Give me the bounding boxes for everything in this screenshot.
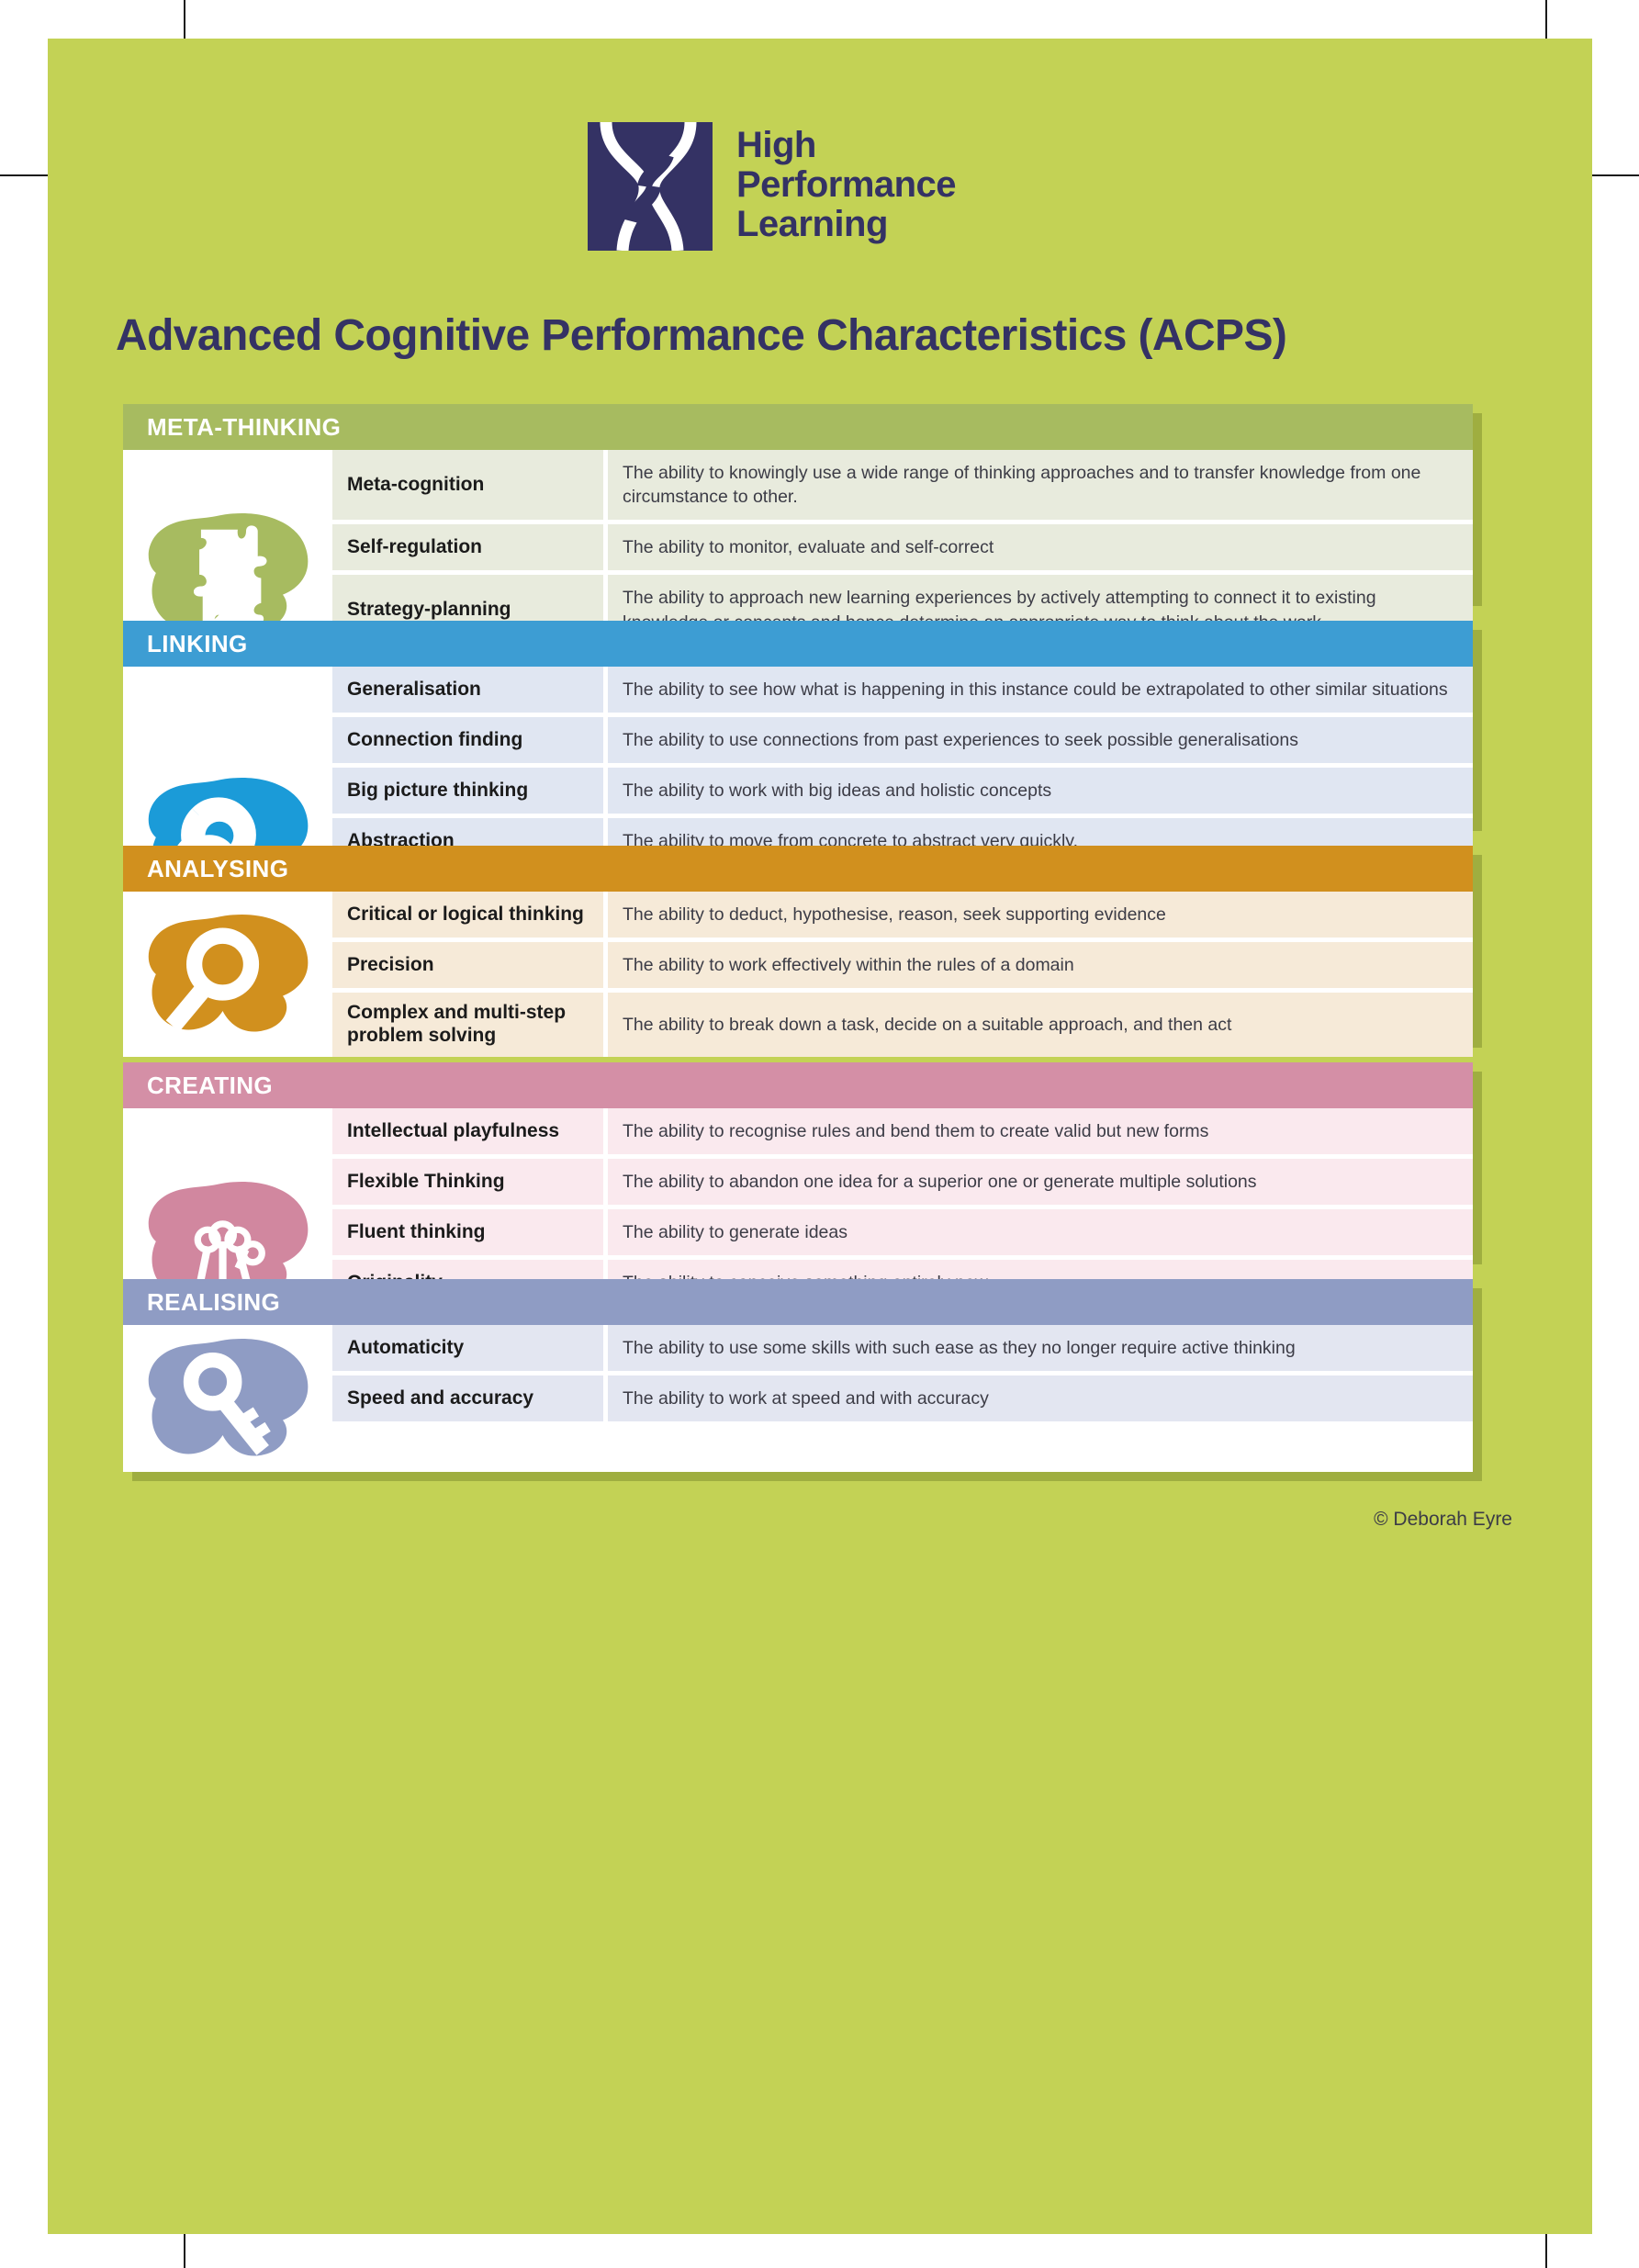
section-header-analysing[interactable]: ANALYSING <box>123 846 1473 892</box>
page-title: Advanced Cognitive Performance Character… <box>116 310 1286 361</box>
characteristic-name: Fluent thinking <box>332 1209 608 1255</box>
table-row[interactable]: Self-regulationThe ability to monitor, e… <box>332 520 1473 570</box>
section-header-label: ANALYSING <box>147 855 288 883</box>
section-realising: REALISINGAutomaticityThe ability to use … <box>123 1279 1473 1472</box>
brain-key-icon <box>123 1325 332 1472</box>
table-row[interactable]: Big picture thinkingThe ability to work … <box>332 763 1473 814</box>
table-row[interactable]: Meta-cognitionThe ability to knowingly u… <box>332 450 1473 520</box>
brand-wordmark: High Performance Learning <box>736 122 956 245</box>
characteristic-name: Critical or logical thinking <box>332 892 608 938</box>
characteristic-description: The ability to generate ideas <box>608 1209 1473 1255</box>
copyright-credit: © Deborah Eyre <box>1374 1509 1512 1531</box>
characteristic-name: Flexible Thinking <box>332 1159 608 1205</box>
section-header-label: LINKING <box>147 630 248 658</box>
characteristic-name: Generalisation <box>332 667 608 713</box>
table-row[interactable]: GeneralisationThe ability to see how wha… <box>332 667 1473 713</box>
characteristic-description: The ability to see how what is happening… <box>608 667 1473 713</box>
brand-word-line-3: Learning <box>736 205 956 244</box>
characteristic-description: The ability to knowingly use a wide rang… <box>608 450 1473 520</box>
characteristics-table: Critical or logical thinkingThe ability … <box>332 892 1473 1057</box>
brand-word-line-1: High <box>736 126 956 165</box>
characteristic-description: The ability to recognise rules and bend … <box>608 1108 1473 1154</box>
table-row[interactable]: Critical or logical thinkingThe ability … <box>332 892 1473 938</box>
characteristic-name: Intellectual playfulness <box>332 1108 608 1154</box>
characteristic-name: Connection finding <box>332 717 608 763</box>
table-row[interactable]: Flexible ThinkingThe ability to abandon … <box>332 1154 1473 1205</box>
characteristic-name: Big picture thinking <box>332 768 608 814</box>
section-content: REALISINGAutomaticityThe ability to use … <box>123 1279 1473 1472</box>
poster-canvas: High Performance Learning Advanced Cogni… <box>0 0 1639 2268</box>
characteristic-name: Self-regulation <box>332 524 608 570</box>
characteristic-description: The ability to monitor, evaluate and sel… <box>608 524 1473 570</box>
characteristic-description: The ability to break down a task, decide… <box>608 993 1473 1057</box>
section-header-label: META-THINKING <box>147 413 341 442</box>
brand-logo: High Performance Learning <box>588 122 956 251</box>
characteristic-name: Precision <box>332 942 608 988</box>
table-row[interactable]: Intellectual playfulnessThe ability to r… <box>332 1108 1473 1154</box>
section-header-linking[interactable]: LINKING <box>123 621 1473 667</box>
table-row[interactable]: AutomaticityThe ability to use some skil… <box>332 1325 1473 1371</box>
characteristic-name: Complex and multi-step problem solving <box>332 993 608 1057</box>
brand-word-line-2: Performance <box>736 165 956 205</box>
section-header-meta-thinking[interactable]: META-THINKING <box>123 404 1473 450</box>
section-body: AutomaticityThe ability to use some skil… <box>123 1325 1473 1472</box>
characteristic-name: Speed and accuracy <box>332 1375 608 1421</box>
section-body: Critical or logical thinkingThe ability … <box>123 892 1473 1057</box>
characteristic-name: Automaticity <box>332 1325 608 1371</box>
characteristic-description: The ability to deduct, hypothesise, reas… <box>608 892 1473 938</box>
section-header-label: REALISING <box>147 1288 280 1317</box>
table-row[interactable]: Complex and multi-step problem solvingTh… <box>332 988 1473 1057</box>
section-header-realising[interactable]: REALISING <box>123 1279 1473 1325</box>
section-header-label: CREATING <box>147 1072 273 1100</box>
table-row[interactable]: Fluent thinkingThe ability to generate i… <box>332 1205 1473 1255</box>
characteristic-description: The ability to use some skills with such… <box>608 1325 1473 1371</box>
characteristic-description: The ability to work with big ideas and h… <box>608 768 1473 814</box>
table-row[interactable]: Connection findingThe ability to use con… <box>332 713 1473 763</box>
characteristic-description: The ability to work at speed and with ac… <box>608 1375 1473 1421</box>
characteristic-description: The ability to abandon one idea for a su… <box>608 1159 1473 1205</box>
characteristic-name: Meta-cognition <box>332 450 608 520</box>
section-content: ANALYSINGCritical or logical thinkingThe… <box>123 846 1473 1057</box>
characteristics-table: AutomaticityThe ability to use some skil… <box>332 1325 1473 1472</box>
section-analysing: ANALYSINGCritical or logical thinkingThe… <box>123 846 1473 1057</box>
table-row[interactable]: Speed and accuracyThe ability to work at… <box>332 1371 1473 1421</box>
section-header-creating[interactable]: CREATING <box>123 1062 1473 1108</box>
dna-helix-icon <box>588 122 713 251</box>
table-row[interactable]: PrecisionThe ability to work effectively… <box>332 938 1473 988</box>
characteristic-description: The ability to work effectively within t… <box>608 942 1473 988</box>
brain-magnifier-icon <box>123 892 332 1057</box>
characteristic-description: The ability to use connections from past… <box>608 717 1473 763</box>
